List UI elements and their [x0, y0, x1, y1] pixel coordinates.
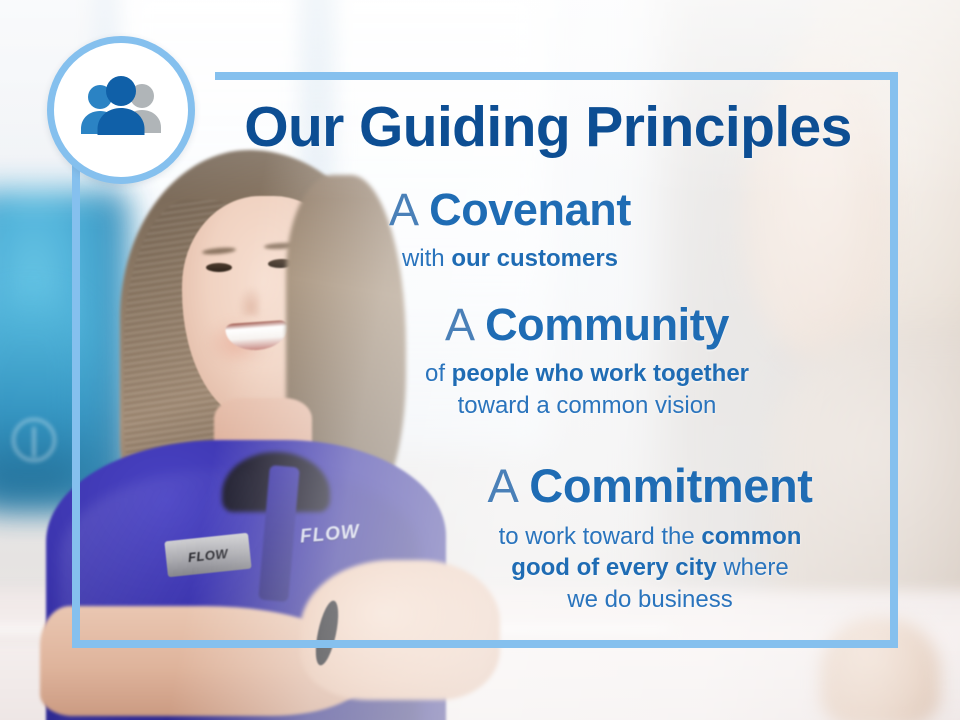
detail-text: with	[402, 245, 451, 272]
principle-covenant-detail: with our customers	[300, 243, 720, 275]
principle-community-keyword: Community	[485, 299, 729, 350]
decorative-frame-top-rule	[215, 72, 898, 80]
principle-commitment-heading: A Commitment	[410, 460, 890, 513]
detail-text: where	[717, 554, 789, 581]
principle-covenant-heading: A Covenant	[300, 185, 720, 235]
detail-emphasis: common	[701, 523, 801, 550]
principle-commitment: A Commitment to work toward the commongo…	[410, 460, 890, 616]
principle-covenant-article: A	[389, 184, 417, 235]
detail-text: to work toward the	[499, 523, 702, 550]
principle-community-heading: A Community	[352, 300, 822, 350]
principle-commitment-keyword: Commitment	[529, 459, 812, 512]
detail-text: we do business	[567, 586, 732, 613]
principle-community-detail: of people who work togethertoward a comm…	[352, 358, 822, 421]
principle-community-article: A	[445, 299, 473, 350]
detail-text: toward a common vision	[458, 392, 717, 419]
people-group-badge	[47, 36, 195, 184]
principle-covenant-keyword: Covenant	[429, 184, 631, 235]
principle-commitment-article: A	[487, 459, 516, 512]
detail-emphasis: good of every city	[511, 554, 716, 581]
detail-emphasis: people who work together	[452, 360, 749, 387]
detail-emphasis: our customers	[451, 245, 618, 272]
poster-canvas: FLOW FLOW Our Guiding Principles A Coven…	[0, 0, 960, 720]
people-group-icon	[73, 75, 169, 145]
detail-text: of	[425, 360, 452, 387]
principle-community: A Community of people who work togethert…	[352, 300, 822, 422]
page-title: Our Guiding Principles	[218, 98, 878, 158]
principle-covenant: A Covenant with our customers	[300, 185, 720, 275]
principle-commitment-detail: to work toward the commongood of every c…	[410, 521, 890, 616]
